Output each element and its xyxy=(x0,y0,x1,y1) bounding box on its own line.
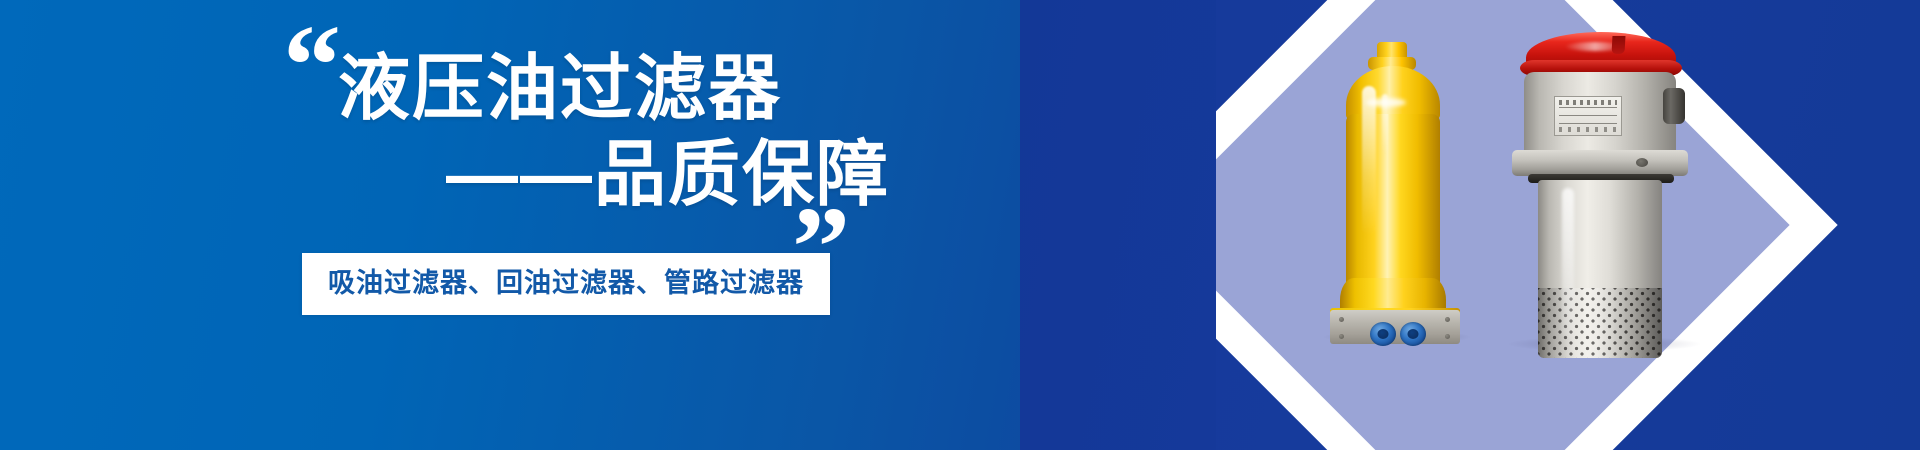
filter-port-right xyxy=(1400,322,1426,346)
nameplate-header-text xyxy=(1559,100,1617,105)
subtitle-box: 吸油过滤器、回油过滤器、管路过滤器 xyxy=(302,253,830,315)
base-bolt xyxy=(1445,317,1450,322)
spec-nameplate xyxy=(1554,96,1622,136)
base-bolt xyxy=(1339,317,1344,322)
closing-quote-mark: „ xyxy=(793,130,851,246)
flange-bolt-hole xyxy=(1636,158,1648,167)
filter-body xyxy=(1346,114,1440,300)
nameplate-footer-text xyxy=(1559,127,1617,132)
filter-mounting-base xyxy=(1330,310,1460,344)
nameplate-rule xyxy=(1559,123,1617,124)
headline-line-1: 液压油过滤器 xyxy=(330,46,890,132)
filter-port-bore xyxy=(1408,329,1419,339)
product-gray-return-filter xyxy=(1508,26,1696,356)
nameplate-rule xyxy=(1559,115,1617,116)
filter-highlight xyxy=(1362,86,1376,236)
subtitle-text: 吸油过滤器、回油过滤器、管路过滤器 xyxy=(328,266,804,300)
filter-port-left xyxy=(1370,322,1396,346)
nameplate-rule xyxy=(1559,107,1617,108)
product-yellow-hydraulic-filter xyxy=(1330,42,1460,342)
base-bolt xyxy=(1339,334,1344,339)
filter-specular-flare xyxy=(1366,98,1406,107)
perforated-strainer-section xyxy=(1538,288,1662,358)
promo-banner: “ 液压油过滤器 ——品质保障 „ 吸油过滤器、回油过滤器、管路过滤器 xyxy=(0,0,1920,450)
strainer-highlight xyxy=(1562,188,1574,338)
product-group xyxy=(1040,0,1920,450)
filter-port-bore xyxy=(1378,329,1389,339)
base-bolt xyxy=(1445,334,1450,339)
red-cap-notch xyxy=(1612,36,1626,54)
mounting-flange xyxy=(1512,150,1688,176)
side-port-knob xyxy=(1663,88,1685,124)
strainer-shading xyxy=(1538,288,1662,358)
